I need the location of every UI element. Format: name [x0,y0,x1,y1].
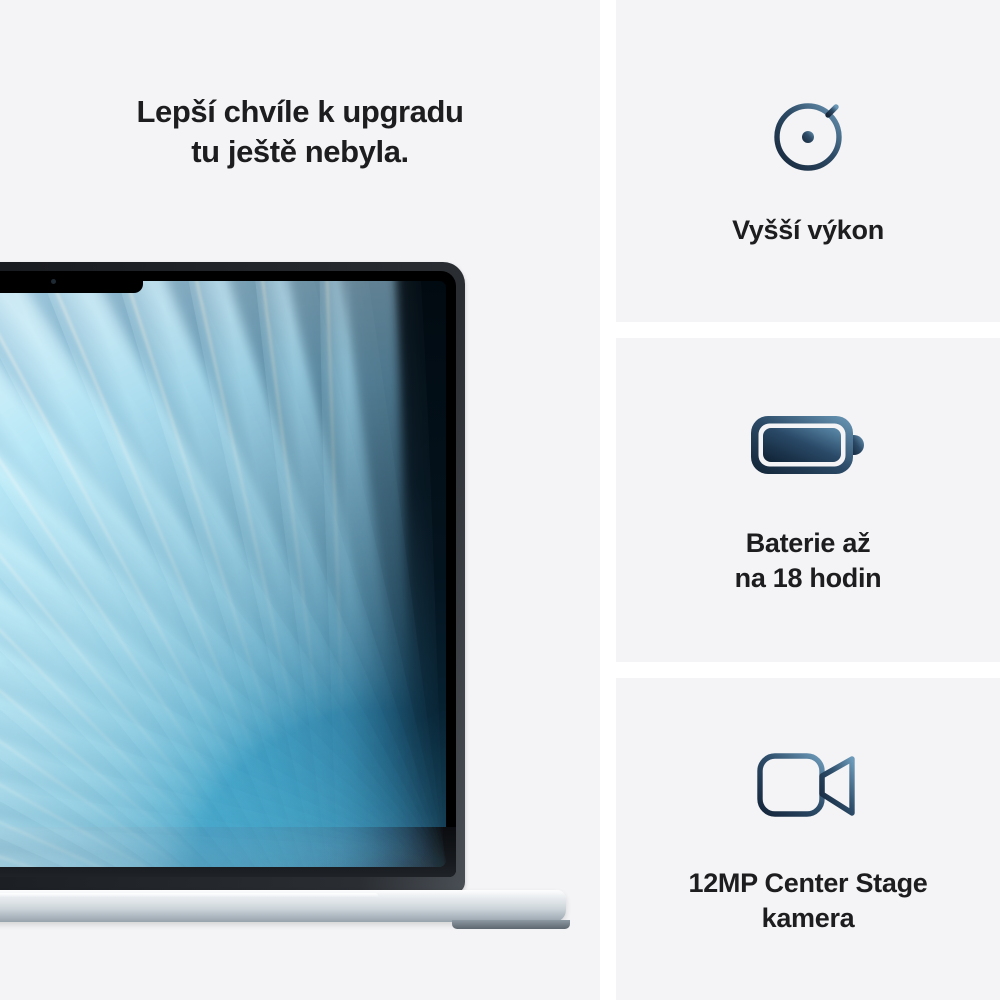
feature-label-camera: 12MP Center Stage kamera [689,866,928,935]
stopwatch-icon [754,75,862,179]
feature-card-camera: 12MP Center Stage kamera [616,678,1000,1000]
hero-card: Lepší chvíle k upgradu tu ještě nebyla. [0,0,600,1000]
feature-card-battery: Baterie až na 18 hodin [616,338,1000,662]
laptop-foot [452,920,570,929]
page-title: Lepší chvíle k upgradu tu ještě nebyla. [0,92,600,173]
promo-page: Lepší chvíle k upgradu tu ještě nebyla. [0,0,1000,1000]
screen-notch [0,271,143,293]
feature-label-performance: Vyšší výkon [732,213,884,248]
laptop-base-highlight [0,893,378,898]
desktop-wallpaper [0,281,446,867]
webcam-icon [51,279,56,284]
feature-label-battery: Baterie až na 18 hodin [735,526,882,595]
video-camera-icon [749,742,867,826]
laptop-lid [0,262,465,894]
feature-list: Vyšší výkon [616,0,1000,1000]
macbook-air-image [0,262,470,932]
laptop-screen [0,281,446,867]
battery-icon [742,404,874,486]
laptop-bezel [0,271,456,877]
feature-card-performance: Vyšší výkon [616,0,1000,322]
